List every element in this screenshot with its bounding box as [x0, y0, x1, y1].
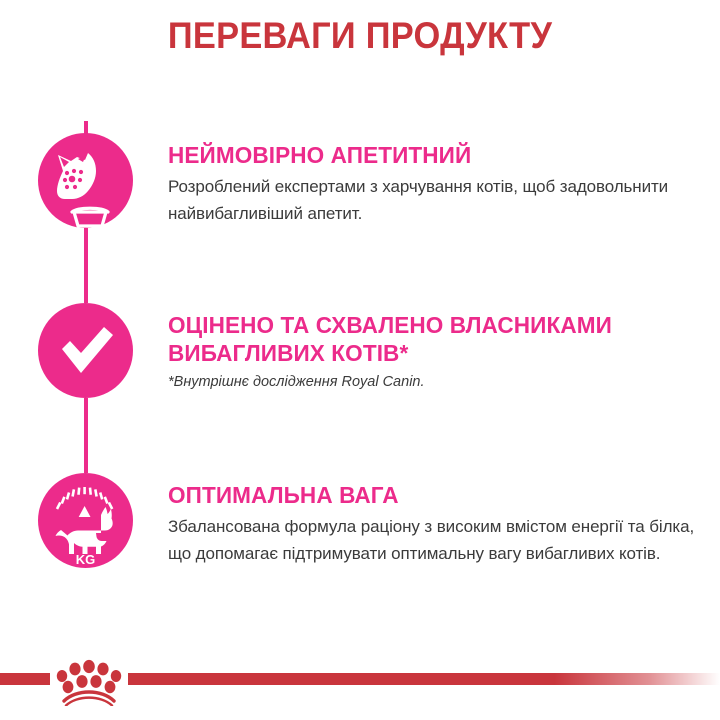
cat-eating-bowl-icon [38, 133, 133, 228]
cat-weight-scale-icon: KG [38, 473, 133, 568]
benefit-body-1: Розроблений експертами з харчування коті… [168, 173, 698, 227]
connector-line-1 [84, 228, 88, 303]
connector-line-2 [84, 398, 88, 473]
benefit-text-column-1: НЕЙМОВІРНО АПЕТИТНИЙ Розроблений експерт… [168, 133, 720, 227]
footer-bar-left [0, 673, 50, 685]
benefit-icon-column-2 [0, 303, 168, 398]
benefit-body-3: Збалансована формула раціону з високим в… [168, 513, 698, 567]
benefit-text-column-3: ОПТИМАЛЬНА ВАГА Збалансована формула рац… [168, 473, 720, 567]
benefit-item-1: НЕЙМОВІРНО АПЕТИТНИЙ Розроблений експерт… [0, 133, 720, 303]
benefit-icon-column-3: KG [0, 473, 168, 568]
benefit-item-3: KG ОПТИМАЛЬНА ВАГА Збалансована формула … [0, 473, 720, 633]
benefit-icon-column-1 [0, 133, 168, 228]
benefit-text-column-2: ОЦІНЕНО ТА СХВАЛЕНО ВЛАСНИКАМИ ВИБАГЛИВИ… [168, 303, 720, 393]
benefit-item-2: ОЦІНЕНО ТА СХВАЛЕНО ВЛАСНИКАМИ ВИБАГЛИВИ… [0, 303, 720, 473]
weight-unit-label: KG [76, 552, 96, 567]
benefit-heading-1: НЕЙМОВІРНО АПЕТИТНИЙ [168, 141, 677, 169]
page-title: ПЕРЕВАГИ ПРОДУКТУ [25, 14, 695, 58]
benefit-heading-2: ОЦІНЕНО ТА СХВАЛЕНО ВЛАСНИКАМИ ВИБАГЛИВИ… [168, 311, 677, 367]
benefit-heading-3: ОПТИМАЛЬНА ВАГА [168, 481, 677, 509]
checkmark-icon [38, 303, 133, 398]
benefits-list: НЕЙМОВІРНО АПЕТИТНИЙ Розроблений експерт… [0, 133, 720, 633]
benefit-footnote-2: *Внутрішнє дослідження Royal Canin. [168, 371, 698, 393]
footer-bar-right [128, 673, 720, 685]
royal-canin-crown-logo [52, 656, 126, 706]
footer [0, 630, 720, 720]
